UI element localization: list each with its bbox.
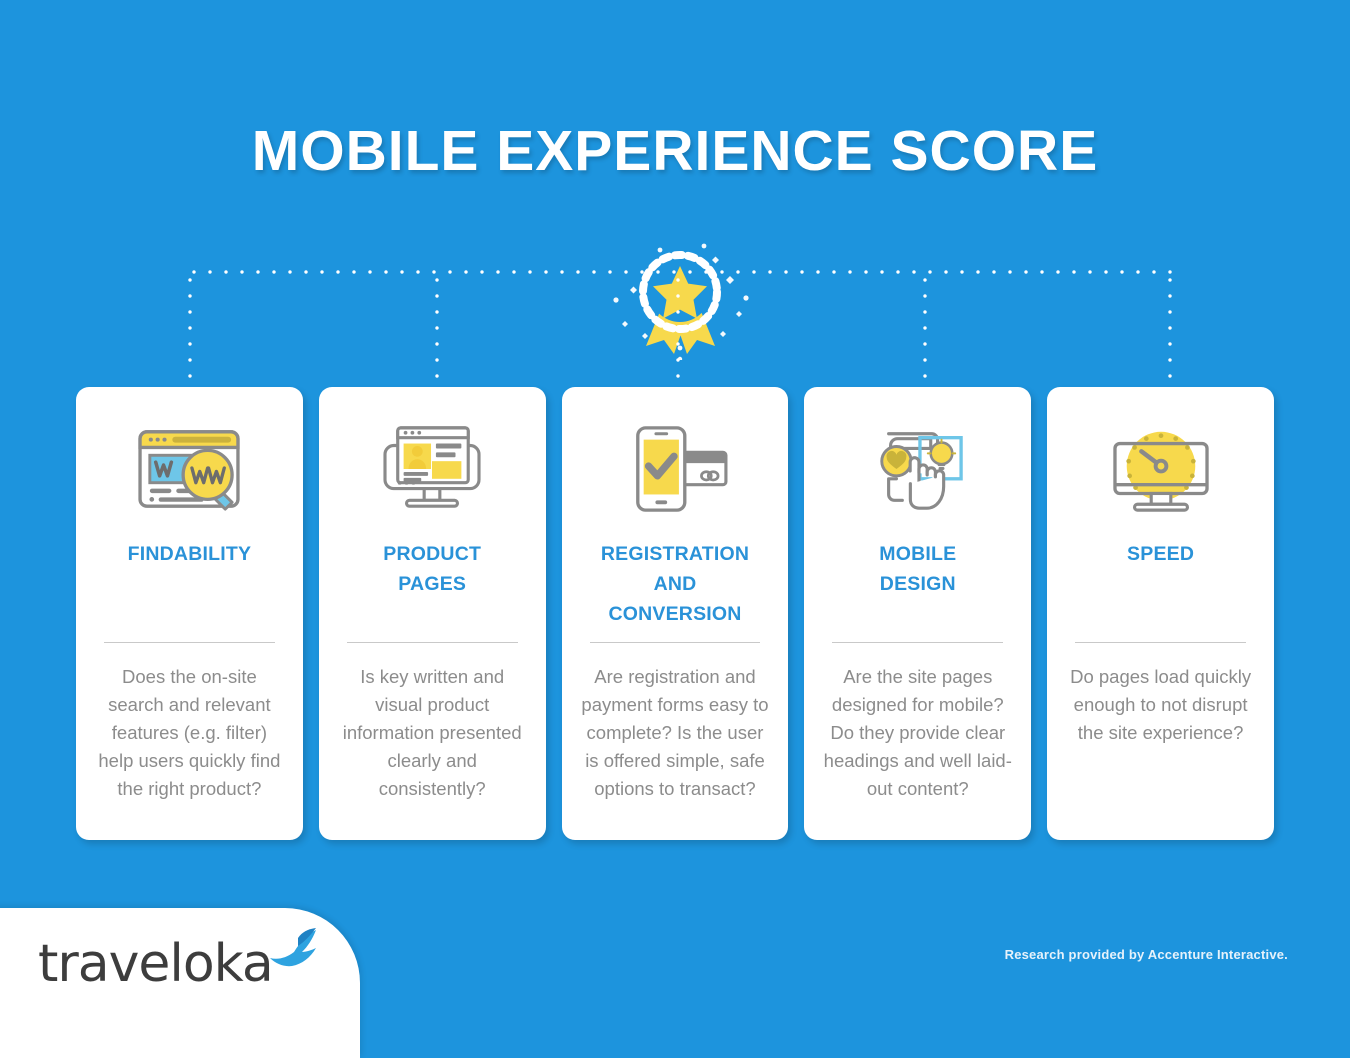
- connector-dotted-line-registration: [676, 272, 680, 388]
- score-card-body: Is key written and visual product inform…: [335, 663, 530, 803]
- infographic-canvas: MOBILE EXPERIENCE SCORE: [0, 0, 1350, 1013]
- connector-dotted-line-mobile-design: [923, 272, 927, 388]
- score-card-title: REGISTRATION AND CONVERSION: [601, 539, 749, 630]
- card-divider: [347, 642, 518, 643]
- traveloka-logo-panel: traveloka: [0, 908, 360, 1058]
- award-medal-badge: [608, 228, 753, 360]
- card-divider: [832, 642, 1003, 643]
- page-title: MOBILE EXPERIENCE SCORE: [0, 118, 1350, 184]
- score-card-list: FINDABILITY Does the on-site search and …: [76, 387, 1274, 840]
- hand-pointer-heart-lightbulb-icon: [859, 413, 977, 525]
- connector-dotted-line-findability: [188, 272, 192, 388]
- connector-dotted-line-speed: [1168, 272, 1172, 388]
- research-credit: Research provided by Accenture Interacti…: [1005, 947, 1288, 962]
- connector-dotted-line-product-pages: [435, 272, 439, 388]
- traveloka-wordmark: traveloka: [38, 934, 273, 994]
- score-card-title: FINDABILITY: [128, 539, 252, 569]
- score-card-registration-and-conversion[interactable]: REGISTRATION AND CONVERSION Are registra…: [562, 387, 789, 840]
- score-card-title: SPEED: [1127, 539, 1194, 569]
- card-divider: [104, 642, 275, 643]
- score-card-mobile-design[interactable]: MOBILE DESIGN Are the site pages designe…: [804, 387, 1031, 840]
- score-card-product-pages[interactable]: PRODUCT PAGES Is key written and visual …: [319, 387, 546, 840]
- connector-horizontal-dotted-line: [186, 270, 1174, 274]
- score-card-findability[interactable]: FINDABILITY Does the on-site search and …: [76, 387, 303, 840]
- score-card-speed[interactable]: SPEED Do pages load quickly enough to no…: [1047, 387, 1274, 840]
- phone-checkmark-credit-card-icon: [616, 413, 734, 525]
- monitor-speedometer-icon: [1102, 413, 1220, 525]
- score-card-body: Are registration and payment forms easy …: [578, 663, 773, 803]
- monitor-product-page-icon: [373, 413, 491, 525]
- card-divider: [1075, 642, 1246, 643]
- browser-search-www-icon: [130, 413, 248, 525]
- score-card-title: PRODUCT PAGES: [383, 539, 481, 599]
- score-card-title: MOBILE DESIGN: [879, 539, 956, 599]
- traveloka-bird-icon: [258, 928, 320, 974]
- score-card-body: Do pages load quickly enough to not disr…: [1063, 663, 1258, 747]
- score-card-body: Does the on-site search and relevant fea…: [92, 663, 287, 803]
- card-divider: [590, 642, 761, 643]
- score-card-body: Are the site pages designed for mobile? …: [820, 663, 1015, 803]
